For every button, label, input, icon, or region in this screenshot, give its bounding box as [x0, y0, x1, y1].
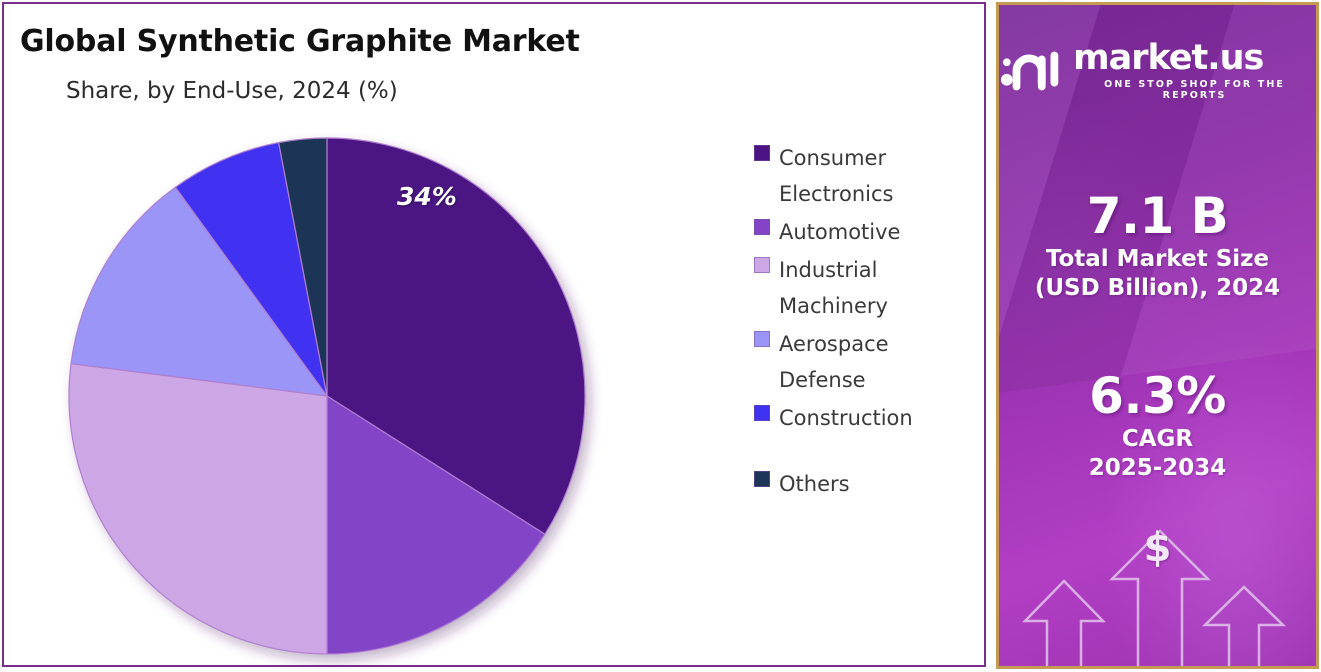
brand-logo-tagline: ONE STOP SHOP FOR THE REPORTS	[1073, 79, 1316, 101]
legend-item-others[interactable]: Others	[754, 466, 979, 502]
market-us-logo-icon	[999, 49, 1063, 93]
growth-arrows-decoration: $	[999, 501, 1316, 666]
legend-item-automotive[interactable]: Automotive	[754, 214, 979, 250]
legend-item-industrial-machinery[interactable]: Industrial Machinery	[754, 252, 979, 324]
legend-swatch-icon	[754, 219, 770, 235]
legend: Consumer Electronics Automotive Industri…	[754, 140, 979, 504]
legend-swatch-icon	[754, 257, 770, 273]
legend-swatch-icon	[754, 331, 770, 347]
legend-item-label: Consumer Electronics	[779, 140, 979, 212]
pie-chart: 34%	[62, 132, 602, 672]
stat-value: 6.3%	[999, 367, 1316, 425]
page-title: Global Synthetic Graphite Market	[20, 24, 580, 59]
pie-slices	[69, 138, 585, 654]
legend-swatch-icon	[754, 145, 770, 161]
legend-swatch-icon	[754, 471, 770, 487]
infographic-canvas: Global Synthetic Graphite Market Share, …	[0, 0, 1321, 671]
legend-item-label: Aerospace Defense	[779, 326, 979, 398]
pie-chart-svg	[62, 132, 602, 672]
brand-panel: market.us ONE STOP SHOP FOR THE REPORTS …	[996, 2, 1319, 669]
brand-logo[interactable]: market.us ONE STOP SHOP FOR THE REPORTS	[999, 41, 1316, 101]
stat-cagr: 6.3% CAGR 2025-2034	[999, 367, 1316, 483]
stat-caption-line1: CAGR	[999, 425, 1316, 454]
stat-caption-line2: (USD Billion), 2024	[999, 274, 1316, 303]
slice-label-consumer-electronics: 34%	[397, 182, 457, 211]
legend-item-label: Others	[779, 466, 850, 502]
legend-item-consumer-electronics[interactable]: Consumer Electronics	[754, 140, 979, 212]
stat-value: 7.1 B	[999, 187, 1316, 245]
chart-panel: Global Synthetic Graphite Market Share, …	[2, 2, 986, 667]
legend-item-construction[interactable]: Construction	[754, 400, 979, 436]
legend-item-aerospace-defense[interactable]: Aerospace Defense	[754, 326, 979, 398]
stat-caption-line2: 2025-2034	[999, 454, 1316, 483]
legend-item-label: Construction	[779, 400, 913, 436]
stat-caption-line1: Total Market Size	[999, 245, 1316, 274]
legend-item-label: Automotive	[779, 214, 900, 250]
legend-item-label: Industrial Machinery	[779, 252, 979, 324]
dollar-sign-icon: $	[999, 525, 1316, 571]
brand-logo-text: market.us	[1073, 41, 1316, 75]
pie-slice[interactable]	[69, 364, 327, 654]
legend-swatch-icon	[754, 405, 770, 421]
page-subtitle: Share, by End-Use, 2024 (%)	[66, 78, 398, 104]
stat-total-market-size: 7.1 B Total Market Size (USD Billion), 2…	[999, 187, 1316, 303]
